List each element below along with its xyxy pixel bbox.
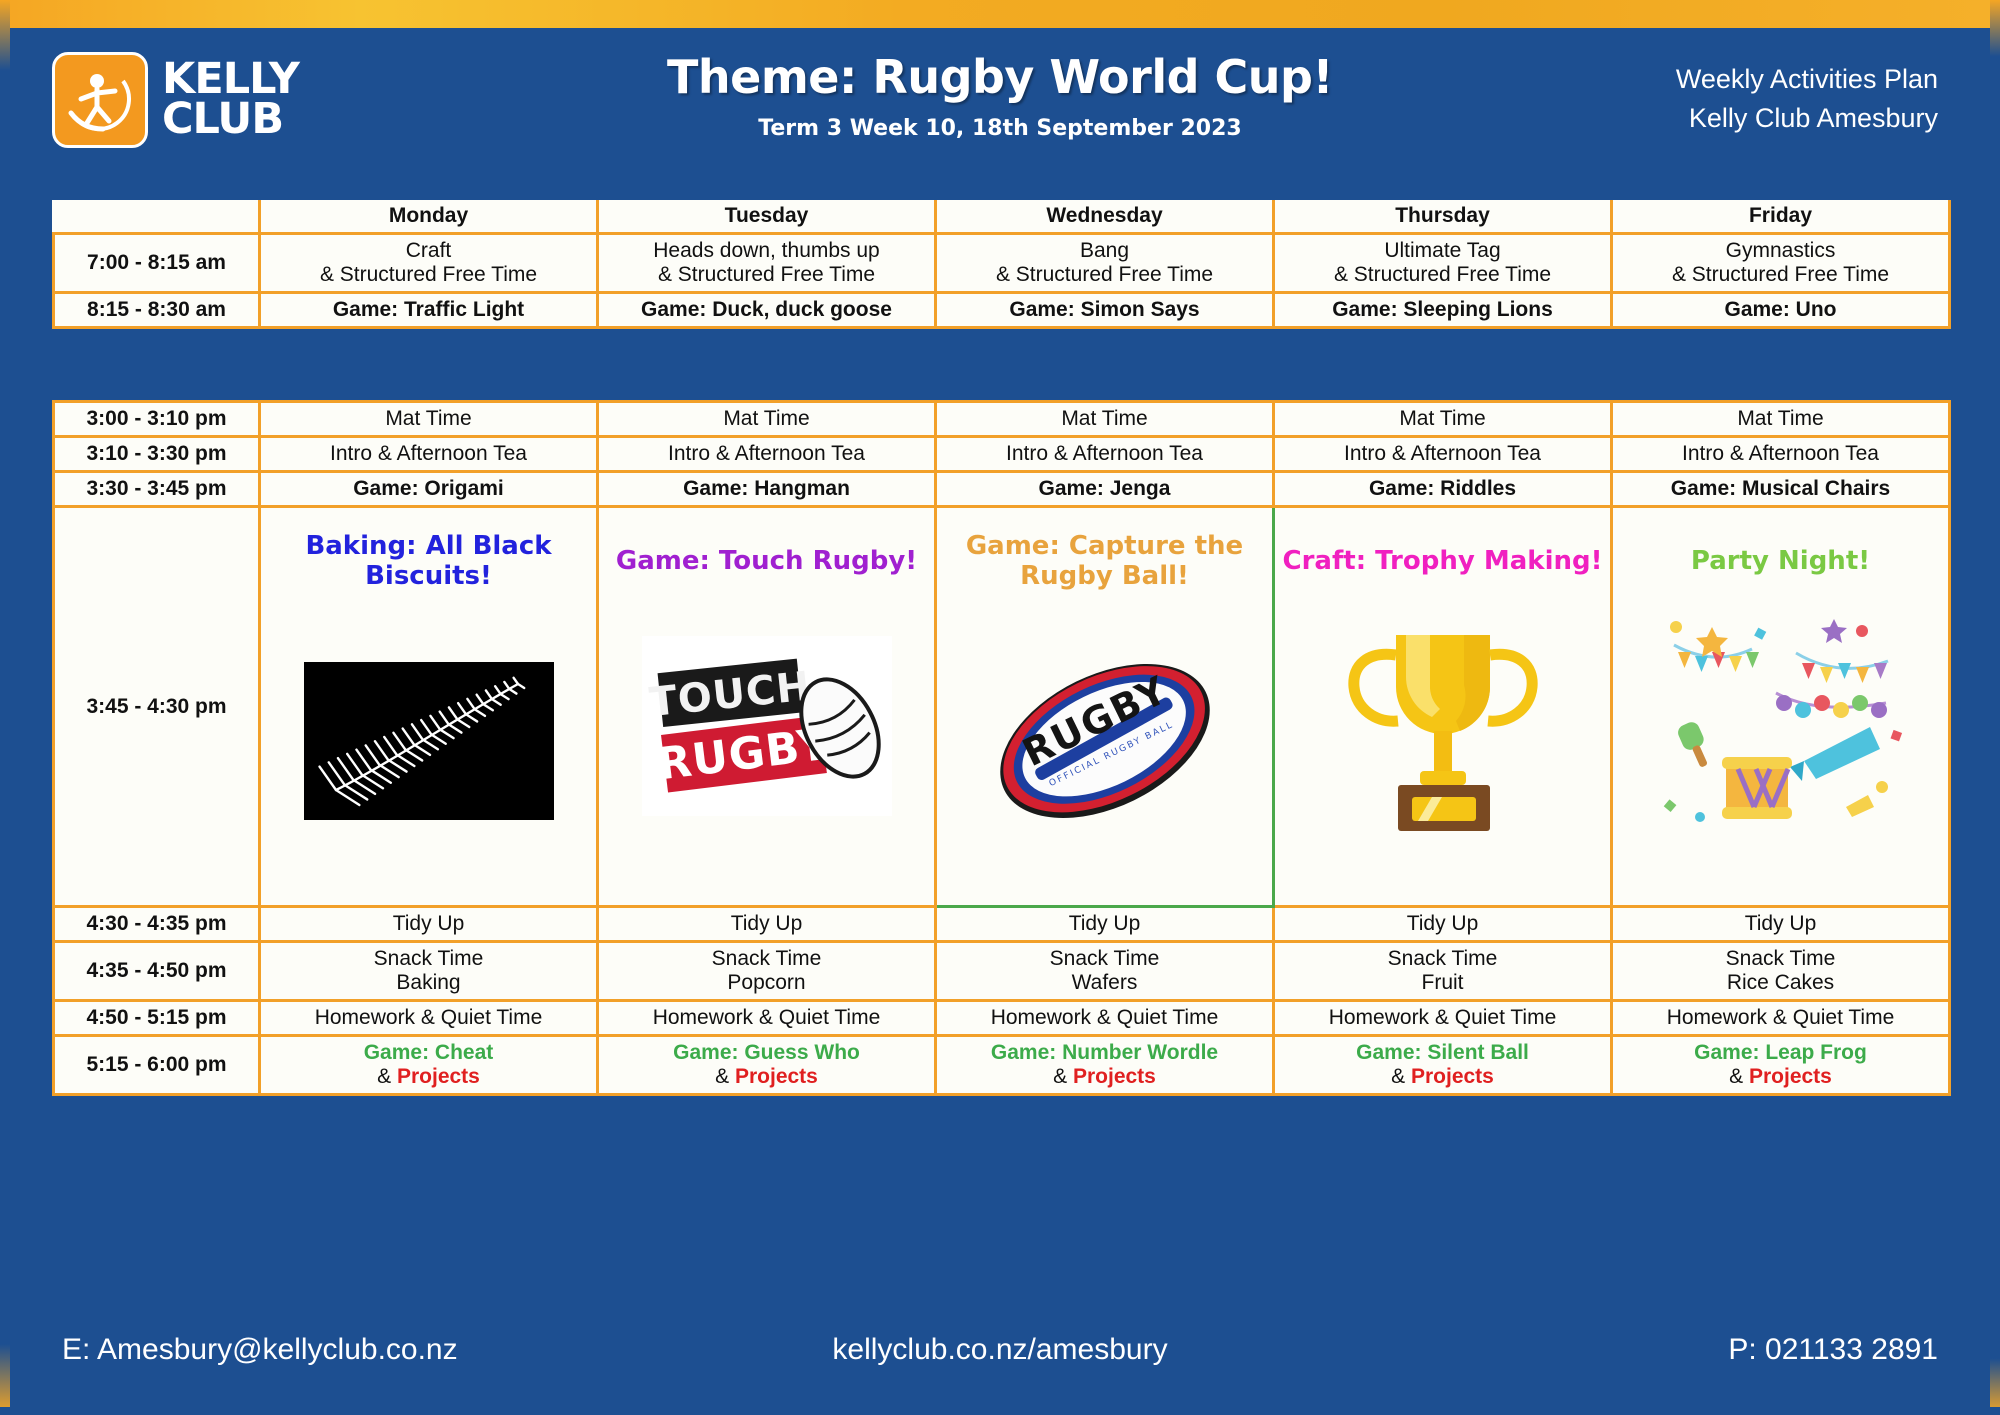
- schedule-cell-line: Rice Cakes: [1615, 971, 1946, 995]
- footer-phone[interactable]: P: 021133 2891: [1728, 1333, 1938, 1367]
- schedule-cell: Tidy Up: [1612, 907, 1950, 942]
- rugby-ball-image: RUGBY OFFICIAL RUGBY BALL: [980, 636, 1230, 846]
- title-block: Theme: Rugby World Cup! Term 3 Week 10, …: [550, 50, 1450, 141]
- party-confetti-image: [1615, 586, 1946, 866]
- feature-cell-tuesday[interactable]: Game: Touch Rugby! TOUCH RUGBY: [598, 507, 936, 907]
- schedule-cell: Snack TimeWafers: [936, 942, 1274, 1001]
- schedule-cell: Mat Time: [260, 402, 598, 437]
- schedule-cell: Ultimate Tag& Structured Free Time: [1274, 234, 1612, 293]
- time-slot-label: 4:35 - 4:50 pm: [54, 942, 260, 1001]
- schedule-cell: Snack TimeRice Cakes: [1612, 942, 1950, 1001]
- feature-title: Baking: All Black Biscuits!: [263, 532, 594, 592]
- schedule-cell-line: Tidy Up: [601, 912, 932, 936]
- touch-rugby-logo-image: TOUCH RUGBY: [601, 586, 932, 866]
- schedule-cell: Game: Guess Who& Projects: [598, 1036, 936, 1095]
- schedule-cell-line: Intro & Afternoon Tea: [1277, 442, 1608, 466]
- game-label: Game: Silent Ball: [1277, 1041, 1608, 1065]
- time-slot-label: 8:15 - 8:30 am: [54, 293, 260, 328]
- schedule-cell: Mat Time: [936, 402, 1274, 437]
- schedule-cell: Bang& Structured Free Time: [936, 234, 1274, 293]
- schedule-cell: Snack TimeBaking: [260, 942, 598, 1001]
- schedule-cell-line: & Structured Free Time: [601, 263, 932, 287]
- schedule-cell: Game: Cheat& Projects: [260, 1036, 598, 1095]
- feature-cell-friday[interactable]: Party Night!: [1612, 507, 1950, 907]
- kelly-club-logo: KELLY CLUB: [52, 52, 299, 148]
- schedule-cell: Game: Sleeping Lions: [1274, 293, 1612, 328]
- day-header-monday: Monday: [260, 200, 598, 234]
- projects-label: & Projects: [601, 1065, 932, 1089]
- rugby-ball-image: RUGBY OFFICIAL RUGBY BALL: [939, 601, 1270, 881]
- schedule-cell: Mat Time: [598, 402, 936, 437]
- schedule-cell: Mat Time: [1612, 402, 1950, 437]
- page-header: KELLY CLUB Theme: Rugby World Cup! Term …: [0, 28, 2000, 188]
- schedule-cell-line: Mat Time: [263, 407, 594, 431]
- schedule-cell-line: Mat Time: [939, 407, 1270, 431]
- schedule-cell-line: Snack Time: [1277, 947, 1608, 971]
- schedule-row: 4:30 - 4:35 pmTidy UpTidy UpTidy UpTidy …: [54, 907, 1950, 942]
- table-corner-cell: [54, 200, 260, 234]
- trophy-image: [1328, 611, 1558, 841]
- schedule-cell: Intro & Afternoon Tea: [598, 437, 936, 472]
- afternoon-schedule-table: 3:00 - 3:10 pmMat TimeMat TimeMat TimeMa…: [52, 400, 1951, 1096]
- time-slot-label: 4:50 - 5:15 pm: [54, 1001, 260, 1036]
- feature-cell-wednesday[interactable]: Game: Capture the Rugby Ball! RUGBY OFFI…: [936, 507, 1274, 907]
- schedule-cell: Intro & Afternoon Tea: [936, 437, 1274, 472]
- kelly-club-wordmark: KELLY CLUB: [162, 60, 299, 139]
- left-border: [0, 0, 10, 1415]
- time-slot-label: 3:10 - 3:30 pm: [54, 437, 260, 472]
- time-slot-label: 3:00 - 3:10 pm: [54, 402, 260, 437]
- game-label: Game: Guess Who: [601, 1041, 932, 1065]
- footer-website[interactable]: kellyclub.co.nz/amesbury: [832, 1333, 1167, 1367]
- schedule-cell-line: Popcorn: [601, 971, 932, 995]
- schedule-cell: Tidy Up: [1274, 907, 1612, 942]
- schedule-cell-line: Snack Time: [263, 947, 594, 971]
- schedule-cell: Craft& Structured Free Time: [260, 234, 598, 293]
- projects-label: & Projects: [939, 1065, 1270, 1089]
- feature-title: Craft: Trophy Making!: [1277, 547, 1608, 577]
- schedule-cell: Intro & Afternoon Tea: [260, 437, 598, 472]
- schedule-cell-line: Heads down, thumbs up: [601, 239, 932, 263]
- day-header-wednesday: Wednesday: [936, 200, 1274, 234]
- page-footer: E: Amesbury@kellyclub.co.nz kellyclub.co…: [0, 1309, 2000, 1405]
- schedule-cell-line: Homework & Quiet Time: [263, 1006, 594, 1030]
- page-subtitle: Term 3 Week 10, 18th September 2023: [550, 116, 1450, 141]
- schedule-cell: Homework & Quiet Time: [598, 1001, 936, 1036]
- schedule-cell-line: Intro & Afternoon Tea: [263, 442, 594, 466]
- schedule-row: 3:10 - 3:30 pmIntro & Afternoon TeaIntro…: [54, 437, 1950, 472]
- schedule-cell: Homework & Quiet Time: [260, 1001, 598, 1036]
- schedule-cell: Homework & Quiet Time: [936, 1001, 1274, 1036]
- schedule-cell-line: Homework & Quiet Time: [601, 1006, 932, 1030]
- schedule-cell-line: Intro & Afternoon Tea: [939, 442, 1270, 466]
- kelly-club-logo-mark-icon: [52, 52, 148, 148]
- schedule-cell-line: Snack Time: [601, 947, 932, 971]
- schedule-cell: Mat Time: [1274, 402, 1612, 437]
- schedule-cell: Game: Musical Chairs: [1612, 472, 1950, 507]
- schedule-cell-line: Tidy Up: [1277, 912, 1608, 936]
- schedule-cell-line: Homework & Quiet Time: [1277, 1006, 1608, 1030]
- schedule-cell-line: Gymnastics: [1615, 239, 1946, 263]
- schedule-cell-line: Ultimate Tag: [1277, 239, 1608, 263]
- schedule-cell-line: Baking: [263, 971, 594, 995]
- logo-line-2: CLUB: [162, 100, 299, 140]
- schedule-cell: Game: Uno: [1612, 293, 1950, 328]
- schedule-cell-line: Mat Time: [1615, 407, 1946, 431]
- schedule-cell: Game: Simon Says: [936, 293, 1274, 328]
- schedule-cell: Intro & Afternoon Tea: [1612, 437, 1950, 472]
- schedule-cell-line: Fruit: [1277, 971, 1608, 995]
- schedule-row: 5:15 - 6:00 pmGame: Cheat& ProjectsGame:…: [54, 1036, 1950, 1095]
- branch-name: Kelly Club Amesbury: [1676, 99, 1938, 138]
- day-header-friday: Friday: [1612, 200, 1950, 234]
- schedule-cell: Game: Riddles: [1274, 472, 1612, 507]
- schedule-row: 3:30 - 3:45 pmGame: OrigamiGame: Hangman…: [54, 472, 1950, 507]
- feature-activity-row: 3:45 - 4:30 pmBaking: All Black Biscuits…: [54, 507, 1950, 907]
- schedule-cell-line: Snack Time: [1615, 947, 1946, 971]
- feature-cell-thursday[interactable]: Craft: Trophy Making!: [1274, 507, 1612, 907]
- schedule-cell: Game: Traffic Light: [260, 293, 598, 328]
- feature-title: Game: Touch Rugby!: [601, 547, 932, 577]
- time-slot-label: 3:45 - 4:30 pm: [54, 507, 260, 907]
- projects-label: & Projects: [263, 1065, 594, 1089]
- schedule-row: 4:35 - 4:50 pmSnack TimeBakingSnack Time…: [54, 942, 1950, 1001]
- time-slot-label: 4:30 - 4:35 pm: [54, 907, 260, 942]
- schedule-row: 4:50 - 5:15 pmHomework & Quiet TimeHomew…: [54, 1001, 1950, 1036]
- game-label: Game: Number Wordle: [939, 1041, 1270, 1065]
- bottom-border: [0, 1407, 2000, 1415]
- schedule-cell-line: Craft: [263, 239, 594, 263]
- schedule-cell: Gymnastics& Structured Free Time: [1612, 234, 1950, 293]
- day-header-tuesday: Tuesday: [598, 200, 936, 234]
- feature-title: Game: Capture the Rugby Ball!: [939, 532, 1270, 592]
- schedule-cell-line: Tidy Up: [1615, 912, 1946, 936]
- schedule-cell-line: Intro & Afternoon Tea: [1615, 442, 1946, 466]
- schedule-cell: Snack TimeFruit: [1274, 942, 1612, 1001]
- schedule-cell-line: Wafers: [939, 971, 1270, 995]
- party-confetti-image: [1656, 611, 1906, 841]
- right-border: [1990, 0, 2000, 1415]
- schedule-cell: Tidy Up: [936, 907, 1274, 942]
- schedule-cell-line: Homework & Quiet Time: [939, 1006, 1270, 1030]
- schedule-row: 8:15 - 8:30 amGame: Traffic LightGame: D…: [54, 293, 1950, 328]
- schedule-cell-line: Tidy Up: [263, 912, 594, 936]
- time-slot-label: 3:30 - 3:45 pm: [54, 472, 260, 507]
- schedule-cell: Game: Number Wordle& Projects: [936, 1036, 1274, 1095]
- schedule-cell: Game: Leap Frog& Projects: [1612, 1036, 1950, 1095]
- schedule-cell-line: Snack Time: [939, 947, 1270, 971]
- schedule-cell-line: & Structured Free Time: [263, 263, 594, 287]
- schedule-cell-line: Mat Time: [1277, 407, 1608, 431]
- schedule-cell-line: & Structured Free Time: [939, 263, 1270, 287]
- schedule-cell-line: & Structured Free Time: [1615, 263, 1946, 287]
- projects-label: & Projects: [1615, 1065, 1946, 1089]
- schedule-cell-line: Tidy Up: [939, 912, 1270, 936]
- top-gold-border: [0, 0, 2000, 28]
- footer-email[interactable]: E: Amesbury@kellyclub.co.nz: [62, 1333, 458, 1367]
- feature-cell-monday[interactable]: Baking: All Black Biscuits!: [260, 507, 598, 907]
- schedule-row: 3:00 - 3:10 pmMat TimeMat TimeMat TimeMa…: [54, 402, 1950, 437]
- feature-title: Party Night!: [1615, 547, 1946, 577]
- schedule-cell: Tidy Up: [260, 907, 598, 942]
- plan-label: Weekly Activities Plan: [1676, 60, 1938, 99]
- silver-fern-image: [304, 662, 554, 820]
- time-slot-label: 5:15 - 6:00 pm: [54, 1036, 260, 1095]
- schedule-cell-line: Mat Time: [601, 407, 932, 431]
- trophy-image: [1277, 586, 1608, 866]
- schedule-cell: Tidy Up: [598, 907, 936, 942]
- schedule-cell: Game: Silent Ball& Projects: [1274, 1036, 1612, 1095]
- schedule-cell: Game: Duck, duck goose: [598, 293, 936, 328]
- schedule-cell: Homework & Quiet Time: [1274, 1001, 1612, 1036]
- morning-schedule-table: MondayTuesdayWednesdayThursdayFriday7:00…: [52, 200, 1951, 329]
- projects-label: & Projects: [1277, 1065, 1608, 1089]
- schedule-cell-line: Intro & Afternoon Tea: [601, 442, 932, 466]
- day-header-row: MondayTuesdayWednesdayThursdayFriday: [54, 200, 1950, 234]
- schedule-cell-line: & Structured Free Time: [1277, 263, 1608, 287]
- schedule-row: 7:00 - 8:15 amCraft& Structured Free Tim…: [54, 234, 1950, 293]
- schedule-cell: Intro & Afternoon Tea: [1274, 437, 1612, 472]
- touch-rugby-logo-image: TOUCH RUGBY: [642, 636, 892, 816]
- day-header-thursday: Thursday: [1274, 200, 1612, 234]
- time-slot-label: 7:00 - 8:15 am: [54, 234, 260, 293]
- silver-fern-image: [263, 601, 594, 881]
- schedule-cell: Snack TimePopcorn: [598, 942, 936, 1001]
- schedule-cell: Homework & Quiet Time: [1612, 1001, 1950, 1036]
- schedule-cell-line: Bang: [939, 239, 1270, 263]
- game-label: Game: Cheat: [263, 1041, 594, 1065]
- branch-block: Weekly Activities Plan Kelly Club Amesbu…: [1676, 60, 1938, 138]
- page-title: Theme: Rugby World Cup!: [550, 50, 1450, 104]
- schedule-cell: Heads down, thumbs up& Structured Free T…: [598, 234, 936, 293]
- game-label: Game: Leap Frog: [1615, 1041, 1946, 1065]
- schedule-cell-line: Homework & Quiet Time: [1615, 1006, 1946, 1030]
- schedule-cell: Game: Jenga: [936, 472, 1274, 507]
- schedule-cell: Game: Origami: [260, 472, 598, 507]
- schedule-cell: Game: Hangman: [598, 472, 936, 507]
